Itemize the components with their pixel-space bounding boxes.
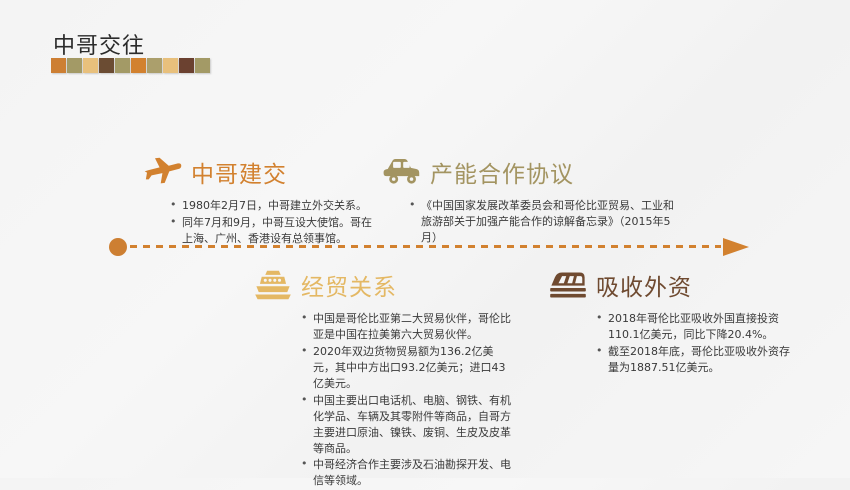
section-header: 产能合作协议 — [383, 152, 682, 192]
color-swatch — [115, 58, 130, 73]
section-title: 吸收外资 — [596, 268, 692, 302]
list-item: 中哥经济合作主要涉及石油勘探开发、电信等领域。 — [299, 457, 514, 489]
color-swatch — [99, 58, 114, 73]
page-title: 中哥交往 — [53, 28, 145, 60]
section-title: 经贸关系 — [301, 268, 397, 302]
color-swatch-strip — [51, 58, 210, 73]
car-icon — [383, 156, 421, 188]
list-item: 中国主要出口电话机、电脑、钢铁、有机化学品、车辆及其零附件等商品，自哥方主要进口… — [299, 393, 514, 457]
airplane-icon — [144, 156, 182, 188]
ship-icon — [254, 269, 292, 301]
section-header: 经贸关系 — [254, 265, 514, 305]
list-item: 2018年哥伦比亚吸收外国直接投资110.1亿美元，同比下降20.4%。 — [594, 311, 799, 343]
section-title: 中哥建交 — [191, 155, 287, 189]
bullet-list: 中国是哥伦比亚第二大贸易伙伴，哥伦比亚是中国在拉美第六大贸易伙伴。 2020年双… — [299, 311, 514, 489]
list-item: 2020年双边货物贸易额为136.2亿美元，其中中方出口93.2亿美元；进口43… — [299, 344, 514, 392]
color-swatch — [163, 58, 178, 73]
timeline-start-dot — [109, 238, 127, 256]
section-block-foreign-investment: 吸收外资 2018年哥伦比亚吸收外国直接投资110.1亿美元，同比下降20.4%… — [549, 265, 799, 377]
color-swatch — [51, 58, 66, 73]
list-item: 《中国国家发展改革委员会和哥伦比亚贸易、工业和旅游部关于加强产能合作的谅解备忘录… — [407, 198, 682, 246]
list-item: 同年7月和9月，中哥互设大使馆。哥在上海、广州、香港设有总领事馆。 — [168, 215, 373, 247]
section-block-capacity-cooperation: 产能合作协议 《中国国家发展改革委员会和哥伦比亚贸易、工业和旅游部关于加强产能合… — [383, 152, 682, 247]
color-swatch — [195, 58, 210, 73]
train-icon — [549, 269, 587, 301]
bullet-list: 《中国国家发展改革委员会和哥伦比亚贸易、工业和旅游部关于加强产能合作的谅解备忘录… — [407, 198, 682, 246]
section-header: 中哥建交 — [144, 152, 373, 192]
section-block-diplomatic-relations: 中哥建交 1980年2月7日，中哥建立外交关系。 同年7月和9月，中哥互设大使馆… — [144, 152, 373, 248]
color-swatch — [179, 58, 194, 73]
color-swatch — [131, 58, 146, 73]
list-item: 中国是哥伦比亚第二大贸易伙伴，哥伦比亚是中国在拉美第六大贸易伙伴。 — [299, 311, 514, 343]
list-item: 1980年2月7日，中哥建立外交关系。 — [168, 198, 373, 214]
section-header: 吸收外资 — [549, 265, 799, 305]
bullet-list: 1980年2月7日，中哥建立外交关系。 同年7月和9月，中哥互设大使馆。哥在上海… — [168, 198, 373, 247]
color-swatch — [147, 58, 162, 73]
slide-canvas: 中哥交往 中哥建交 1980年2月7日，中哥建立外交关系。 同年7月和9月，中哥… — [0, 0, 850, 478]
color-swatch — [83, 58, 98, 73]
timeline-arrowhead-icon — [723, 238, 749, 256]
section-block-trade-relations: 经贸关系 中国是哥伦比亚第二大贸易伙伴，哥伦比亚是中国在拉美第六大贸易伙伴。 2… — [254, 265, 514, 490]
list-item: 截至2018年底，哥伦比亚吸收外资存量为1887.51亿美元。 — [594, 344, 799, 376]
bullet-list: 2018年哥伦比亚吸收外国直接投资110.1亿美元，同比下降20.4%。 截至2… — [594, 311, 799, 376]
color-swatch — [67, 58, 82, 73]
section-title: 产能合作协议 — [430, 155, 574, 189]
